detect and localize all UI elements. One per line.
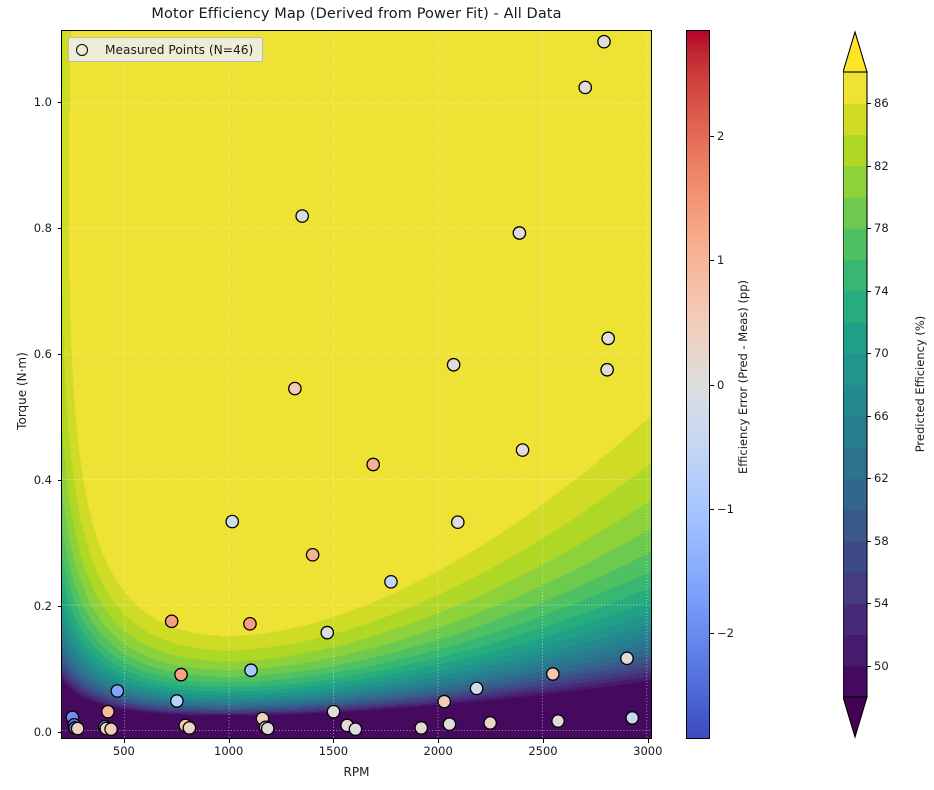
colorbar-error-label: Efficiency Error (Pred - Meas) (pp) (736, 294, 750, 474)
colorbar-error-tick-mark (710, 136, 714, 137)
colorbar-error-tick-label: 2 (717, 129, 724, 143)
colorbar-efficiency-tick-label: 66 (874, 409, 889, 423)
colorbar-error-tick-label: −1 (717, 502, 734, 516)
x-axis-label: RPM (61, 765, 652, 779)
colorbar-error-tick-mark (710, 385, 714, 386)
x-tick-mark (438, 739, 439, 743)
colorbar-efficiency-tick-label: 86 (874, 96, 889, 110)
colorbar-efficiency-tick-label: 70 (874, 346, 889, 360)
y-tick-mark (58, 606, 62, 607)
y-tick-label: 0.2 (10, 599, 52, 613)
x-tick-mark (124, 739, 125, 743)
colorbar-efficiency-tick-label: 50 (874, 659, 889, 673)
y-tick-label: 0.0 (10, 725, 52, 739)
colorbar-efficiency-tick-label: 54 (874, 596, 889, 610)
figure-canvas: Motor Efficiency Map (Derived from Power… (0, 0, 934, 790)
x-tick-mark (333, 739, 334, 743)
x-tick-label: 2000 (424, 744, 453, 758)
colorbar-efficiency-tick-mark (867, 478, 871, 479)
colorbar-efficiency-label: Predicted Efficiency (%) (913, 294, 927, 474)
legend[interactable]: Measured Points (N=46) (68, 37, 263, 62)
colorbar-efficiency-tick-label: 74 (874, 284, 889, 298)
x-tick-label: 1000 (214, 744, 243, 758)
colorbar-error-tick-label: 0 (717, 378, 724, 392)
colorbar-efficiency-gradient (843, 30, 895, 739)
y-tick-mark (58, 102, 62, 103)
efficiency-contour-map (62, 31, 651, 738)
colorbar-error-tick-mark (710, 260, 714, 261)
y-tick-label: 1.0 (10, 95, 52, 109)
y-tick-mark (58, 480, 62, 481)
colorbar-efficiency-tick-label: 58 (874, 534, 889, 548)
colorbar-error-gradient (686, 30, 710, 739)
y-axis-label: Torque (N·m) (15, 301, 29, 481)
colorbar-efficiency-tick-mark (867, 228, 871, 229)
colorbar-efficiency-tick-label: 82 (874, 159, 889, 173)
y-tick-mark (58, 732, 62, 733)
colorbar-efficiency-tick-label: 62 (874, 471, 889, 485)
colorbar-error-tick-label: −2 (717, 626, 734, 640)
colorbar-efficiency-tick-mark (867, 416, 871, 417)
x-tick-label: 3000 (633, 744, 662, 758)
y-tick-mark (58, 354, 62, 355)
x-tick-mark (543, 739, 544, 743)
y-tick-label: 0.8 (10, 221, 52, 235)
open-circle-marker-icon (76, 44, 88, 56)
colorbar-efficiency-tick-mark (867, 603, 871, 604)
x-tick-label: 2500 (528, 744, 557, 758)
colorbar-efficiency-tick-mark (867, 666, 871, 667)
colorbar-efficiency-tick-mark (867, 291, 871, 292)
y-tick-mark (58, 228, 62, 229)
plot-area[interactable] (61, 30, 652, 739)
colorbar-efficiency-tick-mark (867, 541, 871, 542)
colorbar-efficiency-tick-label: 78 (874, 221, 889, 235)
x-tick-mark (229, 739, 230, 743)
colorbar-error-tick-mark (710, 509, 714, 510)
x-tick-mark (648, 739, 649, 743)
x-tick-label: 500 (113, 744, 135, 758)
colorbar-error-tick-label: 1 (717, 253, 724, 267)
colorbar-efficiency-error[interactable]: −2−1012 Efficiency Error (Pred - Meas) (… (686, 30, 816, 739)
colorbar-efficiency-tick-mark (867, 103, 871, 104)
chart-title: Motor Efficiency Map (Derived from Power… (61, 6, 652, 22)
colorbar-error-tick-mark (710, 633, 714, 634)
legend-label: Measured Points (N=46) (105, 43, 253, 57)
x-tick-label: 1500 (319, 744, 348, 758)
colorbar-efficiency-tick-mark (867, 353, 871, 354)
colorbar-efficiency-tick-mark (867, 166, 871, 167)
colorbar-predicted-efficiency[interactable]: 50545862667074788286 Predicted Efficienc… (843, 30, 934, 739)
